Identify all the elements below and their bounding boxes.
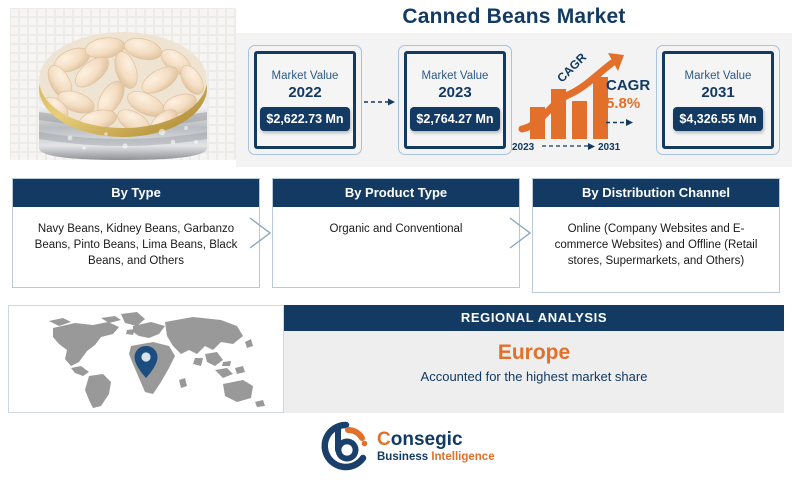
segment-heading: By Type: [13, 179, 259, 207]
market-value-year: 2031: [701, 83, 734, 102]
logo-name-rest: onsegic: [391, 429, 463, 450]
chevron-right-icon: [248, 216, 274, 250]
segment-heading: By Product Type: [273, 179, 519, 207]
segment-card-by-product-type: By Product Type Organic and Conventional: [272, 178, 520, 288]
segment-heading: By Distribution Channel: [533, 179, 779, 207]
market-value-year: 2023: [438, 83, 471, 102]
cagr-end-year: 2031: [598, 142, 621, 153]
market-value-year: 2022: [288, 83, 321, 102]
cagr-diagonal-label: CAGR: [554, 50, 589, 85]
cagr-callout: CAGR 5.8%: [606, 77, 650, 132]
market-value-band: Market Value 2022 $2,622.73 Mn Market Va…: [236, 33, 792, 167]
logo-name-initial: C: [377, 429, 391, 450]
market-value-amount: $4,326.55 Mn: [673, 107, 762, 131]
regional-analysis-heading: REGIONAL ANALYSIS: [284, 305, 784, 331]
segment-card-by-distribution-channel: By Distribution Channel Online (Company …: [532, 178, 780, 293]
consegic-b-logo-icon: [321, 421, 371, 471]
consegic-logo: Consegic Business Intelligence: [321, 419, 496, 473]
world-map-panel: [8, 305, 284, 413]
market-value-label: Market Value: [272, 69, 339, 83]
infographic-page: Canned Beans Market Market Value 2022 $2…: [0, 0, 792, 482]
logo-tagline: Business Intelligence: [377, 450, 495, 464]
market-value-amount: $2,764.27 Mn: [410, 107, 499, 131]
market-value-label: Market Value: [422, 69, 489, 83]
segment-card-by-type: By Type Navy Beans, Kidney Beans, Garban…: [12, 178, 260, 288]
chevron-right-icon: [508, 216, 534, 250]
regional-analysis-panel: REGIONAL ANALYSIS Europe Accounted for t…: [284, 305, 784, 413]
canned-beans-photo: [10, 8, 236, 160]
market-value-label: Market Value: [685, 69, 752, 83]
logo-tagline-second: Intelligence: [431, 451, 494, 463]
logo-tagline-first: Business: [377, 451, 431, 463]
logo-company-name: Consegic: [377, 429, 495, 450]
regional-description: Accounted for the highest market share: [284, 368, 784, 386]
market-value-amount: $2,622.73 Mn: [260, 107, 349, 131]
segment-body: Online (Company Websites and E-commerce …: [533, 207, 779, 279]
regional-leading-region: Europe: [284, 341, 784, 365]
market-value-card-2023: Market Value 2023 $2,764.27 Mn: [398, 45, 512, 155]
market-value-card-2031: Market Value 2031 $4,326.55 Mn: [656, 45, 780, 155]
cagr-value: 5.8%: [606, 94, 650, 113]
cagr-title: CAGR: [606, 77, 650, 94]
market-value-card-2022: Market Value 2022 $2,622.73 Mn: [248, 45, 362, 155]
segment-body: Organic and Conventional: [273, 207, 519, 247]
dashed-arrow-connector: [364, 97, 398, 107]
page-title: Canned Beans Market: [236, 5, 792, 29]
cagr-start-year: 2023: [512, 142, 535, 153]
cagr-dashed-arrow: [606, 114, 650, 132]
segment-body: Navy Beans, Kidney Beans, Garbanzo Beans…: [13, 207, 259, 279]
